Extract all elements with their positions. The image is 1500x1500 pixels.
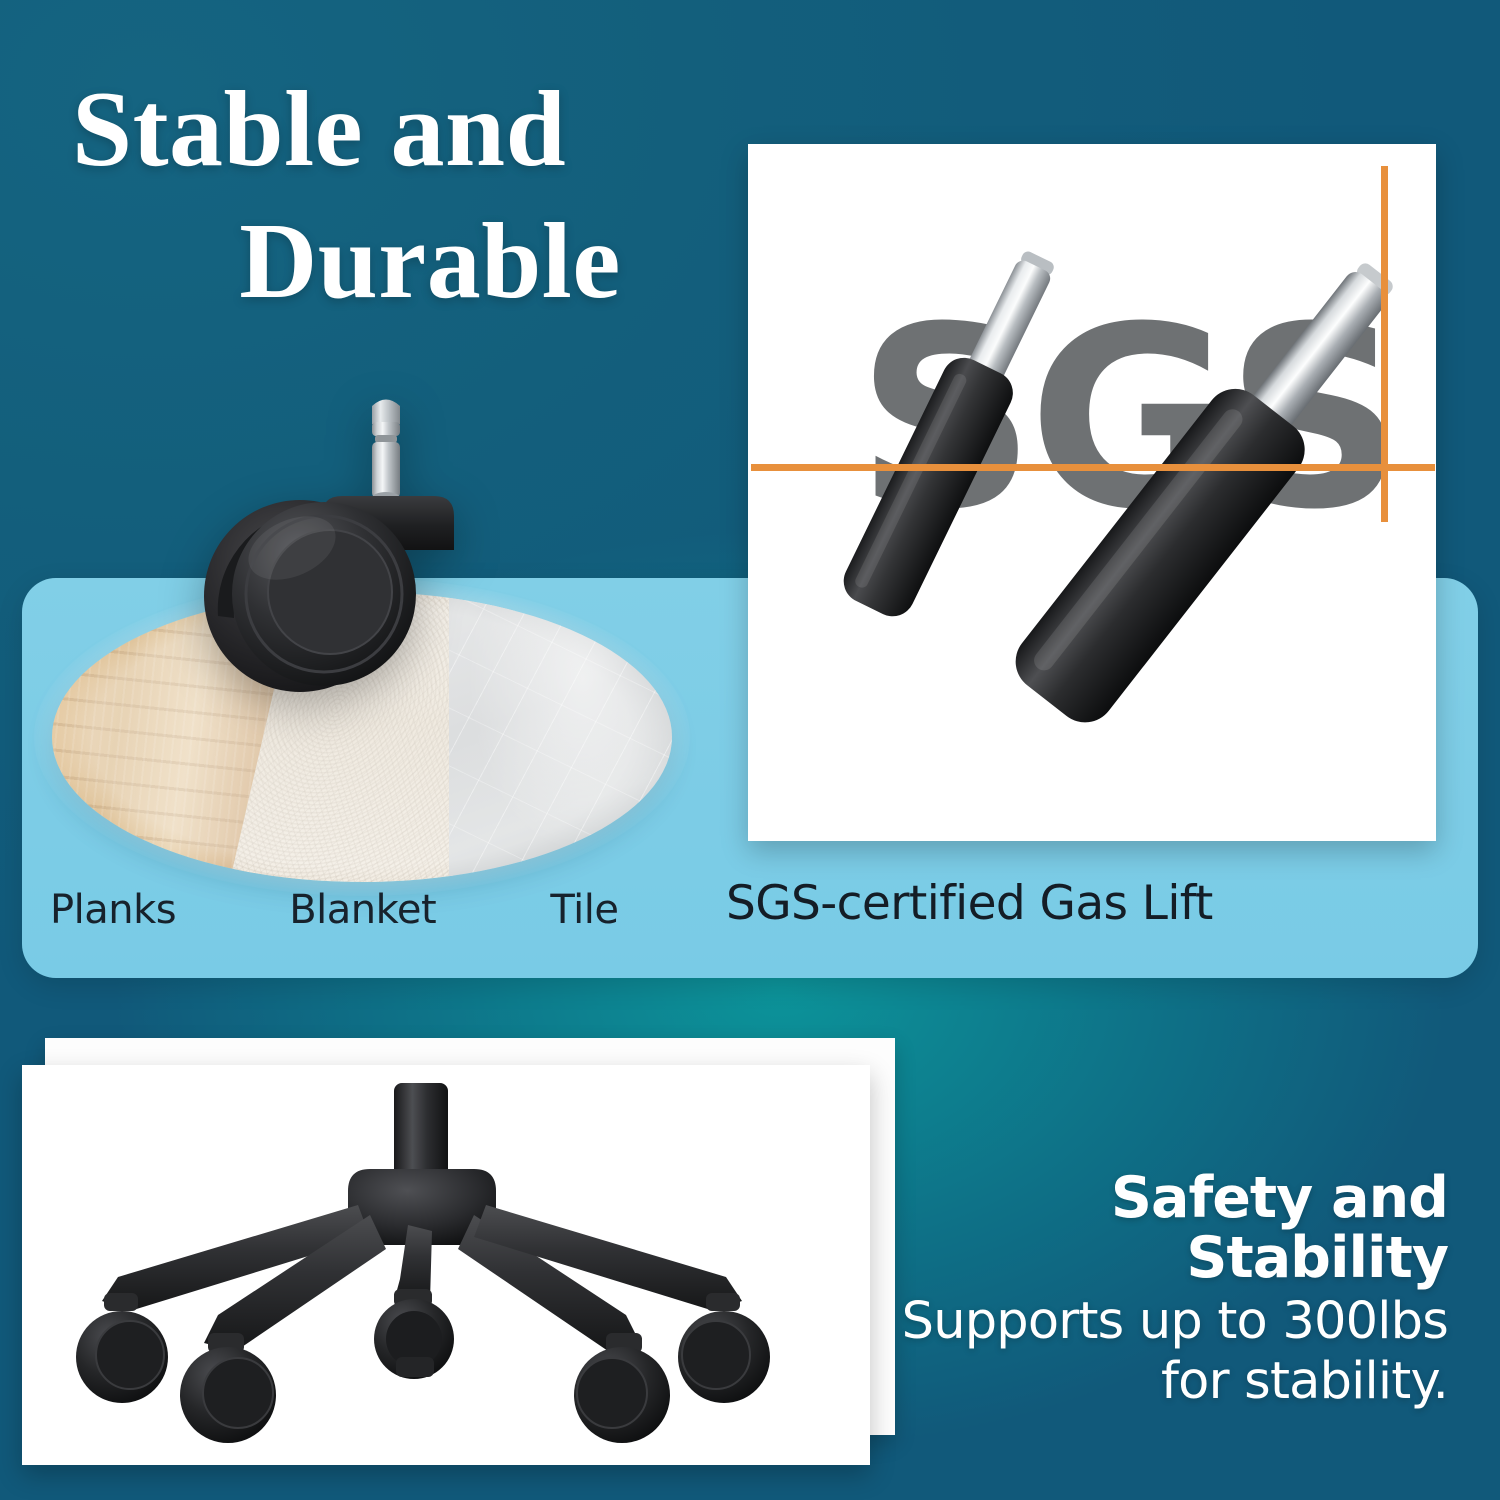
safety-stability-block: Safety and Stability Supports up to 300l… <box>888 1168 1448 1410</box>
page-title: Stable and Durable <box>72 64 752 328</box>
chair-star-base-icon <box>22 1065 870 1465</box>
infographic-root: Stable and Durable <box>0 0 1500 1500</box>
safety-subtext-line-2: for stability. <box>888 1355 1448 1410</box>
floor-label-blanket: Blanket <box>289 887 550 933</box>
safety-subtext-line-1: Supports up to 300lbs <box>888 1295 1448 1350</box>
chair-base-card-front <box>22 1065 870 1465</box>
safety-heading: Safety and Stability <box>888 1168 1448 1289</box>
floor-surface-labels: Planks Blanket Tile <box>40 880 680 940</box>
floor-label-planks: Planks <box>40 887 289 933</box>
title-line-1: Stable and <box>72 64 752 196</box>
title-line-2: Durable <box>72 196 752 328</box>
tile-floor-icon <box>449 592 672 882</box>
sgs-certification-card: SGS <box>748 144 1436 841</box>
floor-label-tile: Tile <box>550 887 680 933</box>
crosshair-horizontal-line <box>751 464 1435 471</box>
caster-wheel-icon <box>196 378 476 718</box>
gas-lift-cylinder-icon <box>748 144 1436 841</box>
sgs-caption: SGS-certified Gas Lift <box>726 876 1213 931</box>
